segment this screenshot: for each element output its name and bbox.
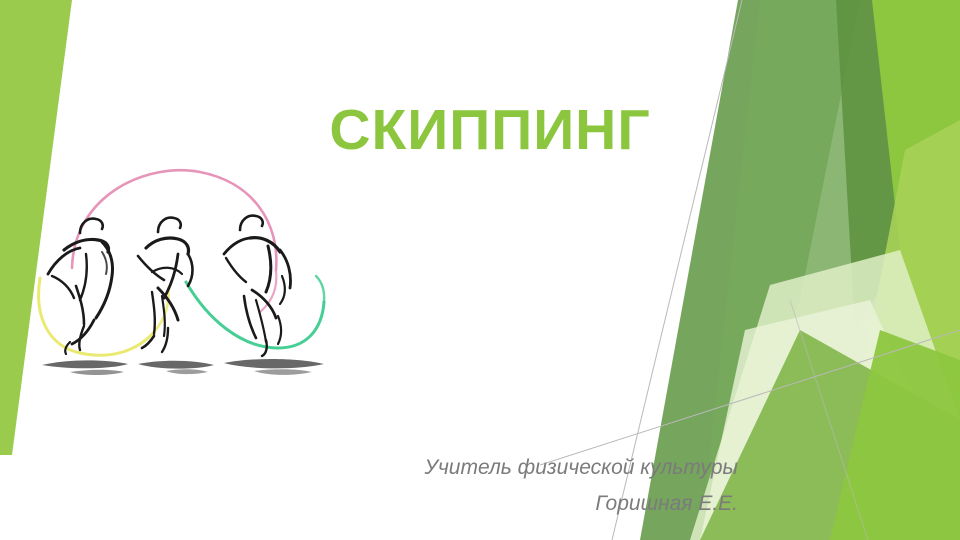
subtitle-line-2: Горишная Е.Е. bbox=[218, 486, 738, 522]
deep-green-wedge bbox=[836, 0, 905, 330]
page-title: Скиппинг bbox=[180, 76, 800, 168]
lower-bright-wedge bbox=[830, 330, 960, 540]
light-green-wedge bbox=[830, 120, 960, 540]
hairline-diagonal-cross bbox=[540, 330, 960, 465]
green-rope-arc-tail bbox=[316, 276, 324, 302]
ground-shadows bbox=[42, 359, 324, 375]
presentation-slide: Скиппинг Учитель физической культуры Гор… bbox=[0, 0, 960, 540]
subtitle-block: Учитель физической культуры Горишная Е.Е… bbox=[218, 450, 738, 522]
pink-rope-arc bbox=[72, 170, 276, 270]
title-block: Скиппинг bbox=[180, 76, 800, 168]
paler-green-wedge bbox=[700, 300, 960, 540]
bright-green-wedge bbox=[838, 0, 960, 540]
figure-middle bbox=[138, 218, 193, 352]
figure-left bbox=[48, 219, 113, 354]
subtitle-line-1: Учитель физической культуры bbox=[218, 450, 738, 486]
hairline-diagonal-lower bbox=[790, 300, 868, 540]
three-jump-rope-figures bbox=[28, 150, 328, 400]
mid-green-wedge bbox=[700, 330, 960, 540]
